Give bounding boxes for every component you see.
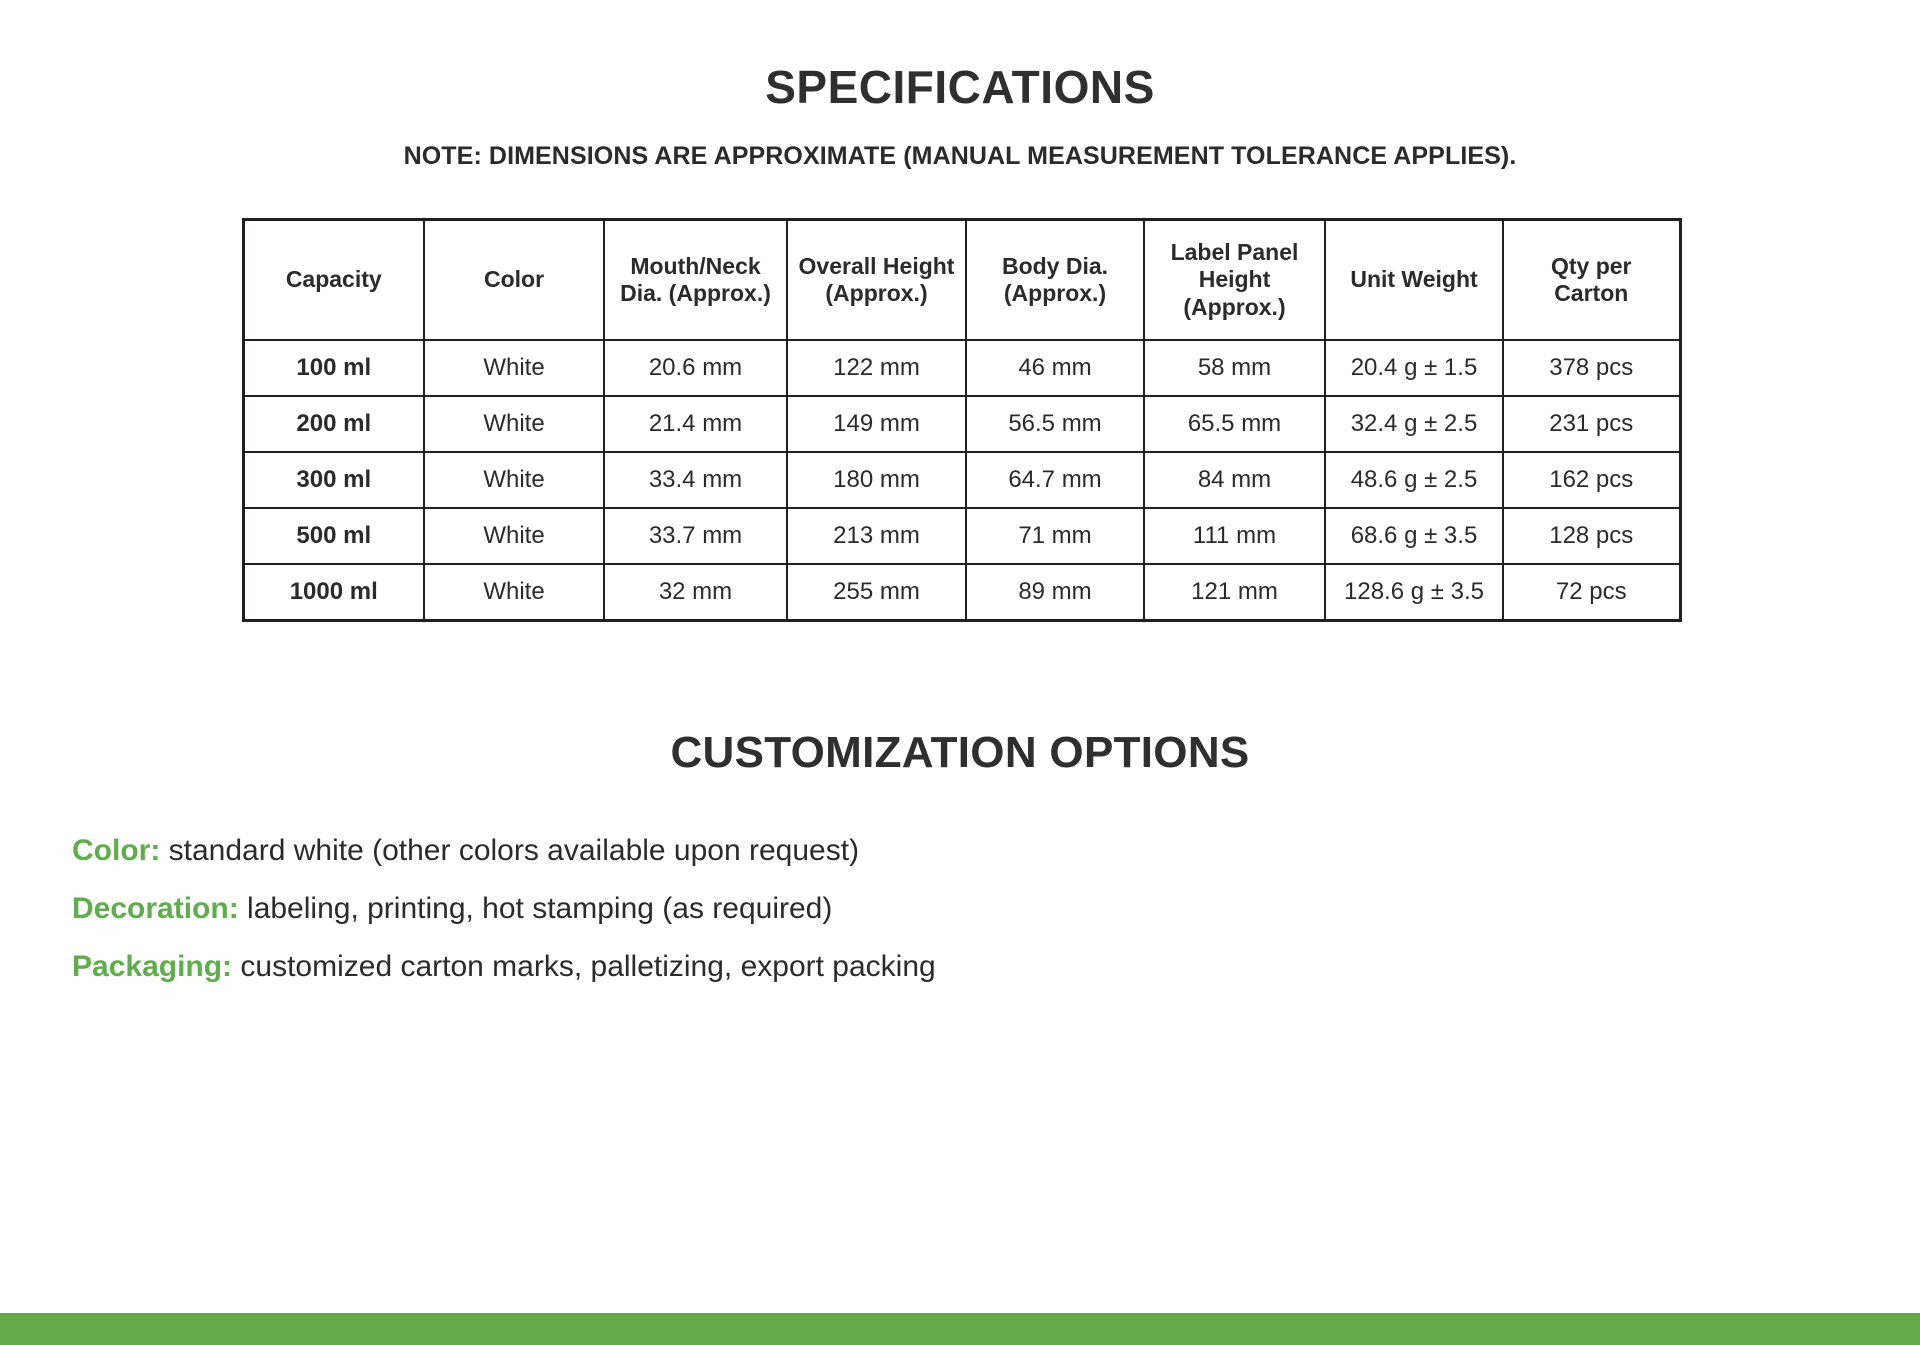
customization-value-color: standard white (other colors available u… — [160, 834, 859, 867]
customization-label-color: Color: — [72, 834, 160, 867]
footer-accent-bar — [0, 1313, 1920, 1345]
header-line: Capacity — [251, 266, 418, 293]
cell-capacity: 500 ml — [243, 508, 424, 564]
cell-label-panel-height: 58 mm — [1144, 340, 1325, 396]
cell-unit-weight: 128.6 g ± 3.5 — [1325, 564, 1503, 621]
column-header-color: Color — [424, 220, 604, 341]
cell-body-dia: 71 mm — [966, 508, 1144, 564]
list-item: Color: standard white (other colors avai… — [72, 836, 1920, 866]
column-header-qty-per-carton: Qty per Carton — [1503, 220, 1680, 341]
spec-table-container: Capacity Color Mouth/Neck Dia. (Approx.)… — [242, 218, 1679, 622]
cell-label-panel-height: 121 mm — [1144, 564, 1325, 621]
column-header-mouth-neck-dia: Mouth/Neck Dia. (Approx.) — [604, 220, 787, 341]
cell-mouth-neck-dia: 33.7 mm — [604, 508, 787, 564]
specifications-table: Capacity Color Mouth/Neck Dia. (Approx.)… — [242, 218, 1682, 622]
customization-list: Color: standard white (other colors avai… — [0, 778, 1920, 982]
header-line: (Approx.) — [1151, 294, 1318, 321]
header-line: (Approx.) — [973, 280, 1137, 307]
cell-mouth-neck-dia: 32 mm — [604, 564, 787, 621]
table-row: 200 ml White 21.4 mm 149 mm 56.5 mm 65.5… — [243, 396, 1680, 452]
cell-qty-per-carton: 128 pcs — [1503, 508, 1680, 564]
cell-unit-weight: 20.4 g ± 1.5 — [1325, 340, 1503, 396]
cell-qty-per-carton: 72 pcs — [1503, 564, 1680, 621]
cell-label-panel-height: 111 mm — [1144, 508, 1325, 564]
column-header-body-dia: Body Dia. (Approx.) — [966, 220, 1144, 341]
header-line: Dia. (Approx.) — [611, 280, 780, 307]
cell-body-dia: 46 mm — [966, 340, 1144, 396]
cell-color: White — [424, 340, 604, 396]
cell-unit-weight: 68.6 g ± 3.5 — [1325, 508, 1503, 564]
table-body: 100 ml White 20.6 mm 122 mm 46 mm 58 mm … — [243, 340, 1680, 621]
cell-overall-height: 180 mm — [787, 452, 966, 508]
header-line: Label Panel — [1151, 239, 1318, 266]
cell-color: White — [424, 396, 604, 452]
cell-mouth-neck-dia: 21.4 mm — [604, 396, 787, 452]
cell-label-panel-height: 84 mm — [1144, 452, 1325, 508]
header-line: Qty per — [1510, 253, 1673, 280]
cell-capacity: 1000 ml — [243, 564, 424, 621]
header-line: (Approx.) — [794, 280, 959, 307]
table-row: 500 ml White 33.7 mm 213 mm 71 mm 111 mm… — [243, 508, 1680, 564]
header-line: Overall Height — [794, 253, 959, 280]
table-row: 300 ml White 33.4 mm 180 mm 64.7 mm 84 m… — [243, 452, 1680, 508]
cell-overall-height: 255 mm — [787, 564, 966, 621]
cell-body-dia: 56.5 mm — [966, 396, 1144, 452]
cell-body-dia: 89 mm — [966, 564, 1144, 621]
header-line: Mouth/Neck — [611, 253, 780, 280]
cell-overall-height: 213 mm — [787, 508, 966, 564]
list-item: Decoration: labeling, printing, hot stam… — [72, 894, 1920, 924]
cell-mouth-neck-dia: 20.6 mm — [604, 340, 787, 396]
cell-unit-weight: 32.4 g ± 2.5 — [1325, 396, 1503, 452]
customization-value-decoration: labeling, printing, hot stamping (as req… — [239, 892, 833, 925]
table-row: 100 ml White 20.6 mm 122 mm 46 mm 58 mm … — [243, 340, 1680, 396]
list-item: Packaging: customized carton marks, pall… — [72, 952, 1920, 982]
cell-capacity: 300 ml — [243, 452, 424, 508]
cell-body-dia: 64.7 mm — [966, 452, 1144, 508]
header-line: Unit Weight — [1332, 266, 1496, 293]
specification-page: SPECIFICATIONS NOTE: DIMENSIONS ARE APPR… — [0, 0, 1920, 1345]
table-header-row: Capacity Color Mouth/Neck Dia. (Approx.)… — [243, 220, 1680, 341]
cell-capacity: 100 ml — [243, 340, 424, 396]
cell-mouth-neck-dia: 33.4 mm — [604, 452, 787, 508]
cell-qty-per-carton: 162 pcs — [1503, 452, 1680, 508]
cell-overall-height: 122 mm — [787, 340, 966, 396]
header-line: Carton — [1510, 280, 1673, 307]
customization-title: CUSTOMIZATION OPTIONS — [0, 622, 1920, 778]
cell-color: White — [424, 452, 604, 508]
table-header: Capacity Color Mouth/Neck Dia. (Approx.)… — [243, 220, 1680, 341]
cell-qty-per-carton: 231 pcs — [1503, 396, 1680, 452]
header-line: Body Dia. — [973, 253, 1137, 280]
cell-overall-height: 149 mm — [787, 396, 966, 452]
cell-capacity: 200 ml — [243, 396, 424, 452]
cell-qty-per-carton: 378 pcs — [1503, 340, 1680, 396]
header-line: Color — [431, 266, 597, 293]
customization-value-packaging: customized carton marks, palletizing, ex… — [232, 950, 936, 983]
cell-unit-weight: 48.6 g ± 2.5 — [1325, 452, 1503, 508]
column-header-capacity: Capacity — [243, 220, 424, 341]
page-title: SPECIFICATIONS — [0, 0, 1920, 114]
column-header-label-panel-height: Label Panel Height (Approx.) — [1144, 220, 1325, 341]
customization-label-decoration: Decoration: — [72, 892, 239, 925]
header-line: Height — [1151, 266, 1318, 293]
spec-note: NOTE: DIMENSIONS ARE APPROXIMATE (MANUAL… — [0, 114, 1920, 171]
cell-color: White — [424, 508, 604, 564]
column-header-unit-weight: Unit Weight — [1325, 220, 1503, 341]
customization-label-packaging: Packaging: — [72, 950, 232, 983]
table-row: 1000 ml White 32 mm 255 mm 89 mm 121 mm … — [243, 564, 1680, 621]
cell-color: White — [424, 564, 604, 621]
column-header-overall-height: Overall Height (Approx.) — [787, 220, 966, 341]
cell-label-panel-height: 65.5 mm — [1144, 396, 1325, 452]
